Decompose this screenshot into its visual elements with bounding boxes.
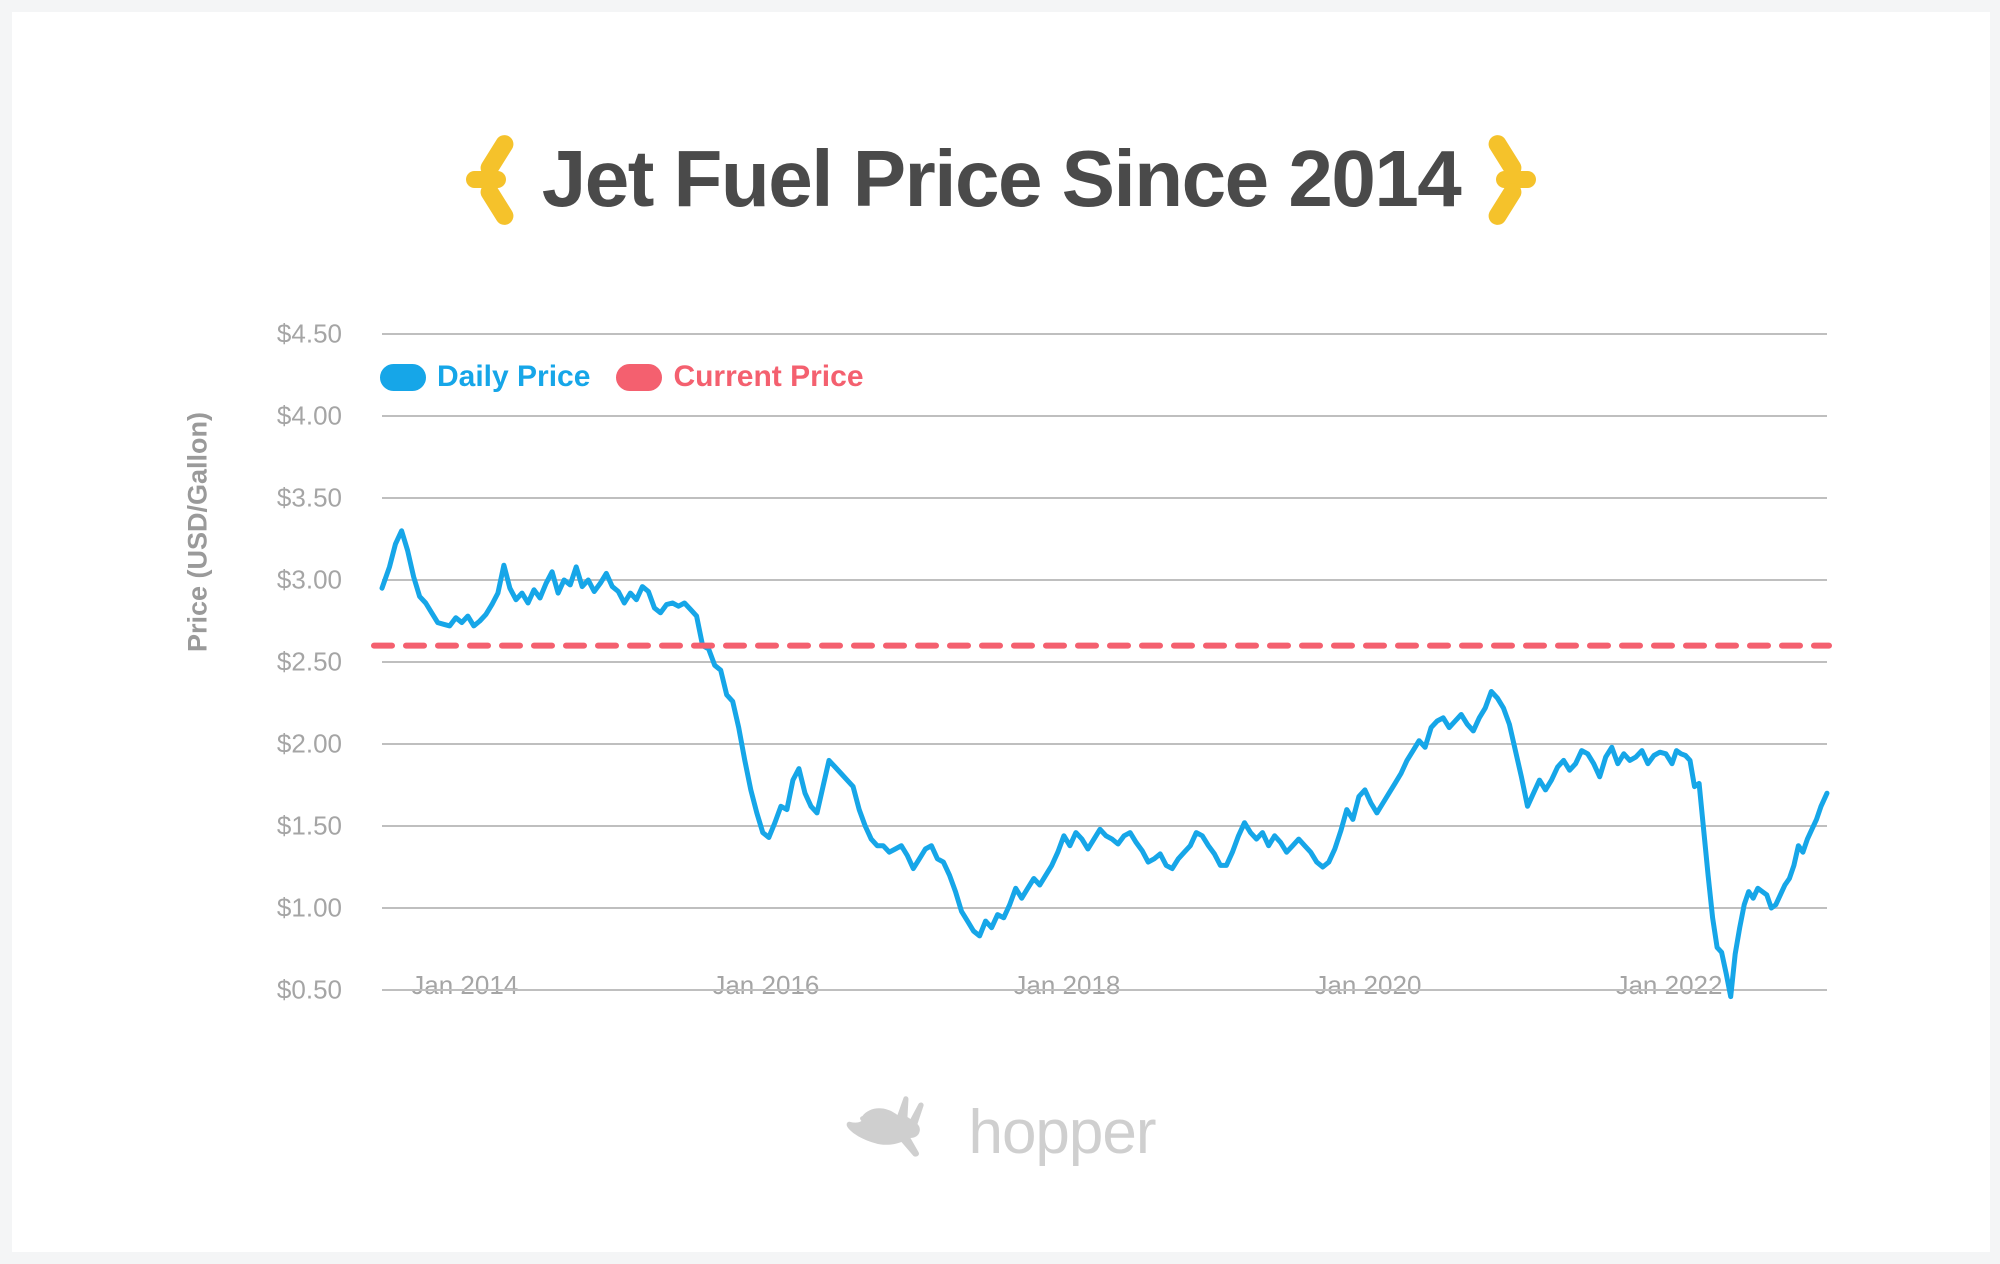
legend-swatch-current-price — [616, 364, 662, 391]
legend-item-daily-price[interactable]: Daily Price — [380, 360, 590, 394]
daily-price-line — [382, 531, 1827, 997]
legend-swatch-daily-price — [380, 364, 426, 391]
plot-canvas — [12, 12, 1990, 1252]
hopper-logo: hopper — [846, 1096, 1155, 1170]
logo-wordmark: hopper — [968, 1102, 1155, 1164]
bunny-icon — [846, 1096, 954, 1170]
series-layer — [374, 531, 1829, 997]
chart-card: Jet Fuel Price Since 2014 Price (USD/Gal… — [12, 12, 1990, 1252]
legend-label-daily-price: Daily Price — [437, 360, 590, 394]
legend-item-current-price[interactable]: Current Price — [616, 360, 863, 394]
chart-container: Price (USD/Gallon) $4.50$4.00$3.50$3.00$… — [12, 12, 1990, 1252]
gridlines — [382, 334, 1827, 990]
chart-legend: Daily Price Current Price — [380, 360, 864, 394]
legend-label-current-price: Current Price — [673, 360, 863, 394]
